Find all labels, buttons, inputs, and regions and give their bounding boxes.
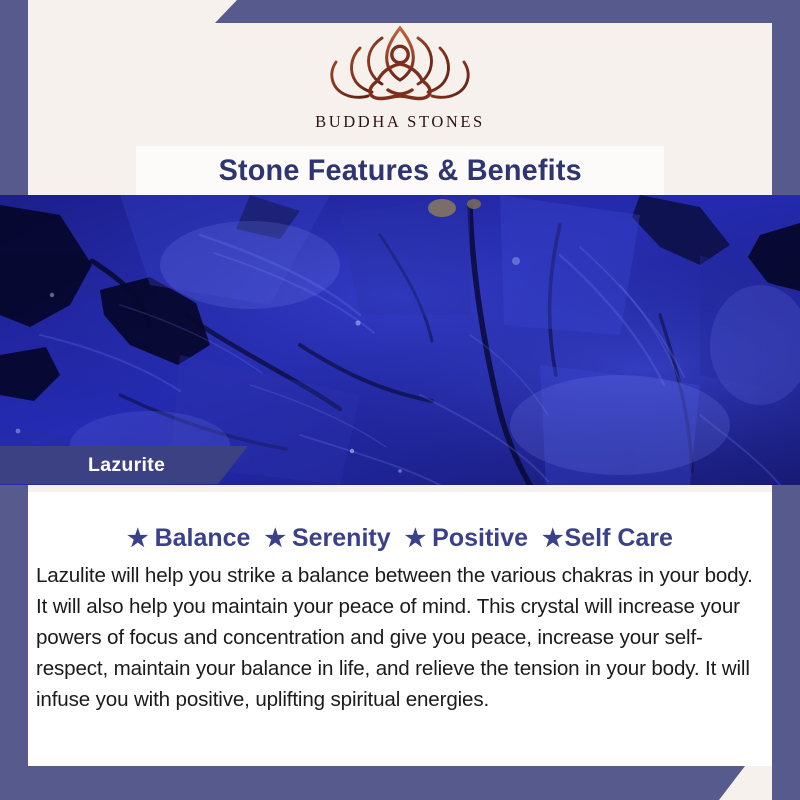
star-icon: ★ [264,527,286,551]
star-icon: ★ [405,527,427,551]
stone-description: Lazulite will help you strike a balance … [36,560,764,715]
stone-photo [0,195,800,485]
brand-name: BUDDHA STONES [315,112,485,132]
poster-canvas: BUDDHA STONES Stone Features & Benefits [0,0,800,800]
page-title: Stone Features & Benefits [218,154,581,188]
benefit-label: Balance [155,524,251,553]
benefit-label: Self Care [565,524,673,553]
benefit-item-self-care: ★ Self Care [542,524,673,553]
benefits-row: ★ Balance ★ Serenity ★ Positive ★ Self C… [28,524,772,553]
lazurite-texture-illustration [0,195,800,485]
stone-name: Lazurite [88,454,165,477]
star-icon: ★ [542,527,564,551]
benefit-label: Serenity [292,524,391,553]
frame-band-top [215,0,800,23]
benefit-item-balance: ★ Balance [127,524,250,553]
lotus-meditation-figure-icon [312,24,488,110]
frame-band-bottom [0,766,745,800]
content-panel: ★ Balance ★ Serenity ★ Positive ★ Self C… [28,492,772,766]
benefit-item-positive: ★ Positive [405,524,528,553]
benefit-item-serenity: ★ Serenity [264,524,390,553]
benefit-label: Positive [432,524,528,553]
star-icon: ★ [127,527,149,551]
stone-name-tag: Lazurite [0,446,248,484]
title-banner: Stone Features & Benefits [136,146,664,195]
brand-logo: BUDDHA STONES [0,24,800,146]
